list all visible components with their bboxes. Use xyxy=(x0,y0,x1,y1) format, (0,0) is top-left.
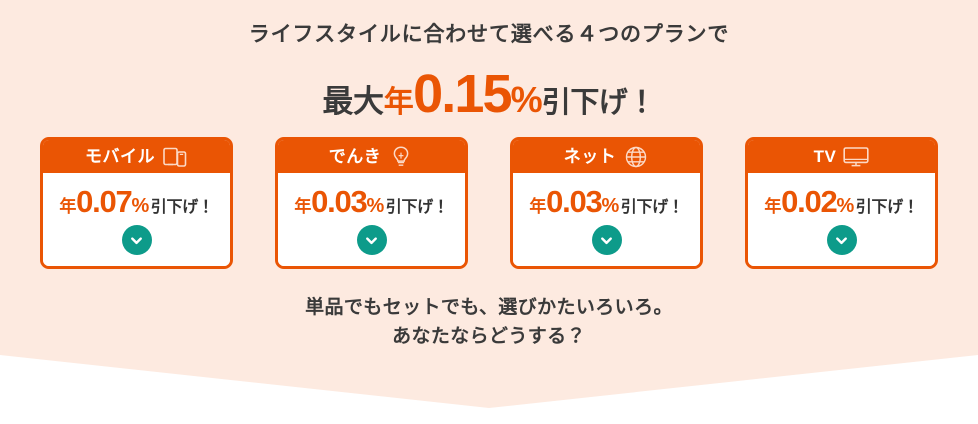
plan-card-row: モバイル 年0.07%引下げ！ xyxy=(40,137,938,269)
plan-card-label: でんき xyxy=(329,148,382,165)
plan-rate-text: 年0.03%引下げ！ xyxy=(294,186,448,217)
plan-card-label: モバイル xyxy=(85,148,155,165)
plan-rate-nen: 年 xyxy=(59,197,76,216)
chevron-down-icon xyxy=(834,233,849,248)
plan-card-mobile[interactable]: モバイル 年0.07%引下げ！ xyxy=(40,137,233,269)
plan-card-label: TV xyxy=(814,148,837,165)
plan-rate-value: 0.03 xyxy=(311,184,366,219)
plan-card-header-mobile: モバイル xyxy=(43,140,230,173)
plan-card-label: ネット xyxy=(564,148,617,165)
plan-rate-value: 0.02 xyxy=(781,184,836,219)
plan-rate-suffix: 引下げ！ xyxy=(621,199,684,216)
lightbulb-icon xyxy=(388,145,414,169)
plan-rate-percent: % xyxy=(601,195,618,217)
plan-rate-percent: % xyxy=(836,195,853,217)
headline-percent: % xyxy=(511,79,542,120)
plan-rate-text: 年0.07%引下げ！ xyxy=(59,186,213,217)
plan-rate-suffix: 引下げ！ xyxy=(386,199,449,216)
plan-card-header-tv: TV xyxy=(748,140,935,173)
footer-copy-block: 単品でもセットでも、選びかたいろいろ。 あなたならどうする？ xyxy=(0,293,978,352)
plan-card-body-denki: 年0.03%引下げ！ xyxy=(278,173,465,266)
chevron-down-icon xyxy=(364,233,379,248)
mobile-devices-icon xyxy=(162,145,188,169)
plan-expand-button-denki[interactable] xyxy=(357,225,387,255)
plan-rate-text: 年0.03%引下げ！ xyxy=(529,186,683,217)
plan-card-body-mobile: 年0.07%引下げ！ xyxy=(43,173,230,266)
plan-rate-value: 0.07 xyxy=(76,184,131,219)
footer-copy-line-2: あなたならどうする？ xyxy=(0,322,978,351)
plan-rate-percent: % xyxy=(131,195,148,217)
headline-suffix: 引下げ！ xyxy=(542,87,656,119)
plan-rate-nen: 年 xyxy=(764,197,781,216)
chevron-down-icon xyxy=(599,233,614,248)
plan-rate-text: 年0.02%引下げ！ xyxy=(764,186,918,217)
chevron-down-icon xyxy=(129,233,144,248)
headline-nen: 年 xyxy=(384,86,413,119)
monitor-icon xyxy=(843,145,869,169)
headline-lead-text: ライフスタイルに合わせて選べる４つのプランで xyxy=(0,22,978,47)
footer-copy-line-1: 単品でもセットでも、選びかたいろいろ。 xyxy=(0,293,978,322)
headline-prefix: 最大 xyxy=(322,84,383,119)
plan-expand-button-net[interactable] xyxy=(592,225,622,255)
plan-expand-button-mobile[interactable] xyxy=(122,225,152,255)
plan-rate-value: 0.03 xyxy=(546,184,601,219)
headline-block: ライフスタイルに合わせて選べる４つのプランで 最大年0.15%引下げ！ xyxy=(0,22,978,121)
plan-card-denki[interactable]: でんき 年0.03%引下げ！ xyxy=(275,137,468,269)
plan-rate-percent: % xyxy=(366,195,383,217)
plan-rate-nen: 年 xyxy=(529,197,546,216)
plan-expand-button-tv[interactable] xyxy=(827,225,857,255)
plan-rate-nen: 年 xyxy=(294,197,311,216)
plan-card-tv[interactable]: TV 年0.02%引下げ！ xyxy=(745,137,938,269)
headline-value: 0.15 xyxy=(413,64,511,124)
plan-rate-suffix: 引下げ！ xyxy=(151,199,214,216)
plan-card-header-net: ネット xyxy=(513,140,700,173)
plan-rate-suffix: 引下げ！ xyxy=(856,199,919,216)
plan-card-body-net: 年0.03%引下げ！ xyxy=(513,173,700,266)
promo-banner-content: ライフスタイルに合わせて選べる４つのプランで 最大年0.15%引下げ！ モバイル xyxy=(0,0,978,424)
plan-card-net[interactable]: ネット 年0.03%引下げ！ xyxy=(510,137,703,269)
plan-card-body-tv: 年0.02%引下げ！ xyxy=(748,173,935,266)
plan-card-header-denki: でんき xyxy=(278,140,465,173)
globe-icon xyxy=(623,145,649,169)
headline-main-text: 最大年0.15%引下げ！ xyxy=(0,67,978,121)
